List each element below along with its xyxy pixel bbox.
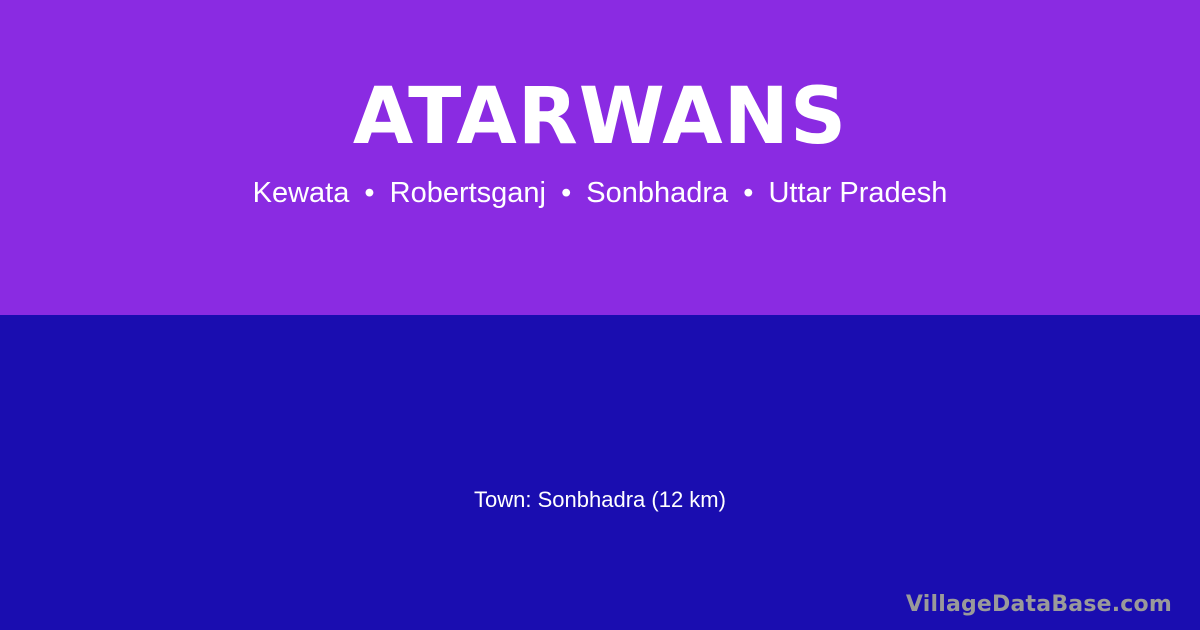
page-title: ATARWANS	[353, 78, 847, 156]
nearest-town-label: Town: Sonbhadra (12 km)	[0, 486, 1200, 515]
hero-band: ATARWANS Kewata • Robertsganj • Sonbhadr…	[0, 0, 1200, 315]
breadcrumb-item-uttar-pradesh: Uttar Pradesh	[768, 177, 947, 209]
breadcrumb-item-kewata: Kewata	[253, 177, 350, 209]
breadcrumb-separator-icon: •	[554, 178, 578, 210]
breadcrumb: Kewata • Robertsganj • Sonbhadra • Uttar…	[253, 178, 948, 210]
hero-content: ATARWANS Kewata • Robertsganj • Sonbhadr…	[0, 0, 1200, 315]
breadcrumb-item-robertsganj: Robertsganj	[390, 177, 546, 209]
body-band: Town: Sonbhadra (12 km) VillageDataBase.…	[0, 315, 1200, 630]
breadcrumb-separator-icon: •	[357, 178, 381, 210]
village-info-card: ATARWANS Kewata • Robertsganj • Sonbhadr…	[0, 0, 1200, 630]
breadcrumb-item-sonbhadra: Sonbhadra	[586, 177, 728, 209]
site-watermark: VillageDataBase.com	[906, 592, 1172, 618]
breadcrumb-separator-icon: •	[736, 178, 760, 210]
